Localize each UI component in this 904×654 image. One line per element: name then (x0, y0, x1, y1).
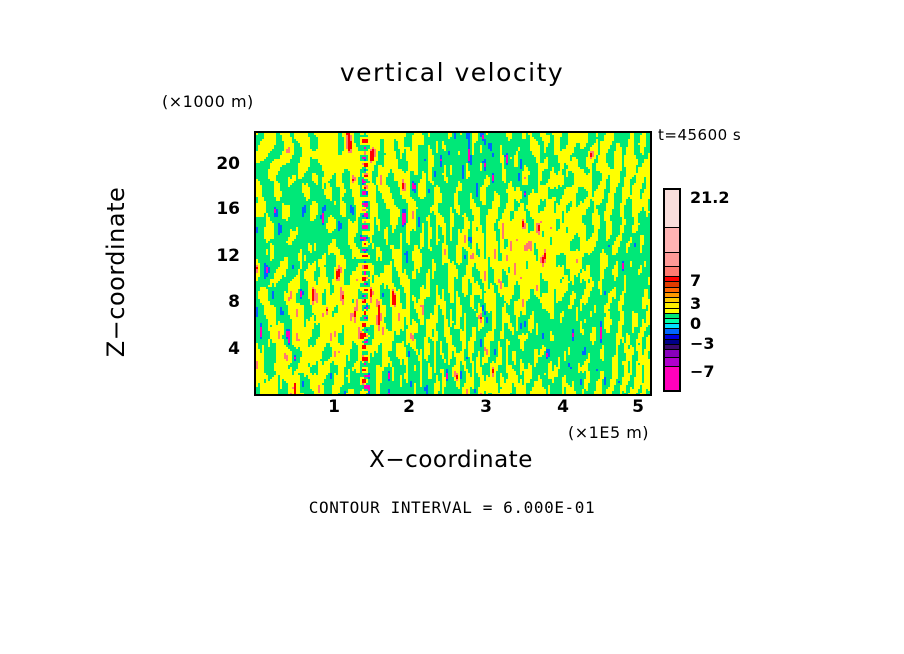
colorbar-tick-label: 7 (690, 271, 701, 290)
colorbar-segment (665, 358, 679, 367)
x-tick-label: 4 (543, 397, 583, 417)
x-tick-label: 2 (389, 397, 429, 417)
colorbar-segment (665, 228, 679, 253)
colorbar-segment (665, 267, 679, 277)
colorbar-tick-labels: 21.2730−3−7 (690, 0, 810, 654)
colorbar-tick-label: 0 (690, 314, 701, 333)
x-tick-label: 1 (314, 397, 354, 417)
colorbar-tick-label: −7 (690, 362, 715, 381)
colorbar[interactable] (663, 188, 681, 392)
colorbar-segment (665, 190, 679, 228)
colorbar-segment (665, 253, 679, 267)
x-axis-unit-label: (×1E5 m) (568, 423, 649, 442)
x-tick-label: 5 (618, 397, 658, 417)
colorbar-tick-label: −3 (690, 334, 715, 353)
colorbar-segment (665, 350, 679, 358)
colorbar-tick-label: 21.2 (690, 188, 729, 207)
x-axis-title: X−coordinate (254, 447, 648, 473)
x-tick-label: 3 (466, 397, 506, 417)
colorbar-tick-label: 3 (690, 294, 701, 313)
colorbar-segment (665, 367, 679, 390)
